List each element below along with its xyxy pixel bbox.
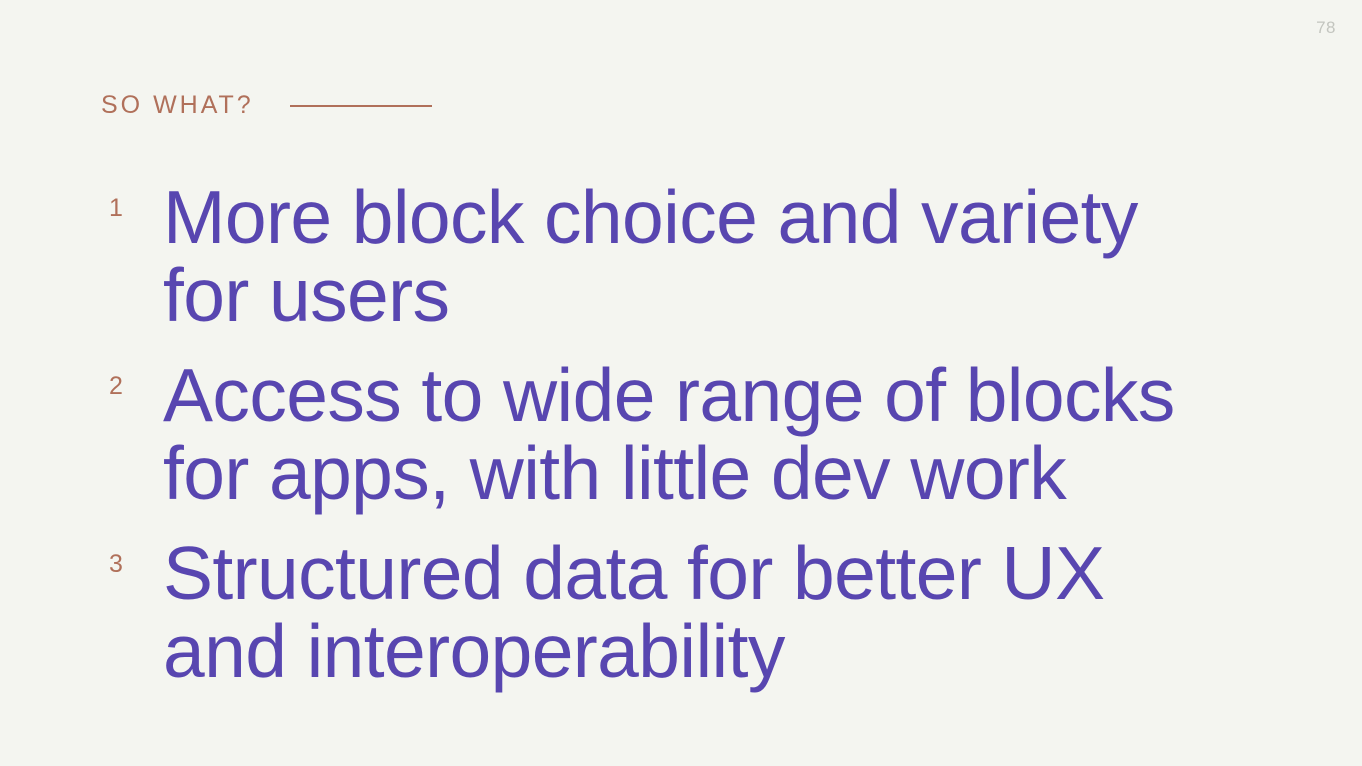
- point-number: 1: [109, 196, 123, 221]
- point-text: Structured data for better UX and intero…: [163, 534, 1301, 690]
- point-number: 2: [109, 374, 123, 399]
- page-number: 78: [1316, 18, 1336, 38]
- point-number: 3: [109, 552, 123, 577]
- presentation-slide: 78 So what? 1 More block choice and vari…: [0, 0, 1362, 766]
- list-item: 1 More block choice and variety for user…: [101, 178, 1301, 334]
- eyebrow-label: So what?: [101, 93, 254, 118]
- point-text: Access to wide range of blocks for apps,…: [163, 356, 1301, 512]
- section-eyebrow: So what?: [101, 93, 432, 118]
- list-item: 2 Access to wide range of blocks for app…: [101, 356, 1301, 512]
- eyebrow-rule-divider: [290, 105, 432, 107]
- numbered-points-list: 1 More block choice and variety for user…: [101, 178, 1301, 690]
- point-text: More block choice and variety for users: [163, 178, 1301, 334]
- list-item: 3 Structured data for better UX and inte…: [101, 534, 1301, 690]
